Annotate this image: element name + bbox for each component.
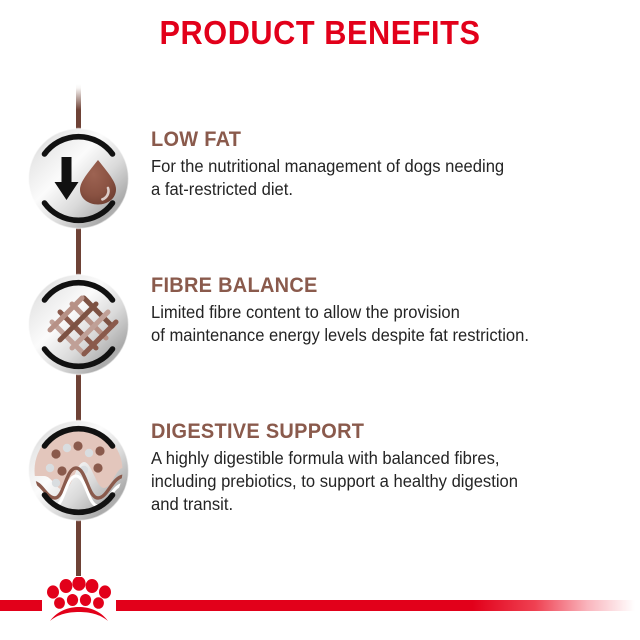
benefit-heading: DIGESTIVE SUPPORT <box>151 420 598 444</box>
benefit-heading: LOW FAT <box>151 128 598 152</box>
low-fat-icon <box>26 126 131 231</box>
benefit-text-block: DIGESTIVE SUPPORT A highly digestible fo… <box>151 420 621 516</box>
fibre-balance-icon <box>26 272 131 377</box>
benefit-body: Limited fibre content to allow the provi… <box>151 301 605 347</box>
royal-canin-crown-logo <box>44 577 114 625</box>
footer-bar-left-segment <box>0 600 42 611</box>
benefit-item-digestive-support: DIGESTIVE SUPPORT A highly digestible fo… <box>0 414 640 526</box>
benefit-heading: FIBRE BALANCE <box>151 274 598 298</box>
footer-bar-right-segment <box>116 600 640 611</box>
benefit-item-low-fat: LOW FAT For the nutritional management o… <box>0 122 640 234</box>
benefit-item-fibre-balance: FIBRE BALANCE Limited fibre content to a… <box>0 268 640 380</box>
benefit-text-block: FIBRE BALANCE Limited fibre content to a… <box>151 274 621 347</box>
benefit-body: For the nutritional management of dogs n… <box>151 155 605 201</box>
page-title: PRODUCT BENEFITS <box>22 14 617 52</box>
digestive-support-icon <box>26 418 131 523</box>
benefit-text-block: LOW FAT For the nutritional management o… <box>151 128 621 201</box>
benefit-body: A highly digestible formula with balance… <box>151 447 605 516</box>
